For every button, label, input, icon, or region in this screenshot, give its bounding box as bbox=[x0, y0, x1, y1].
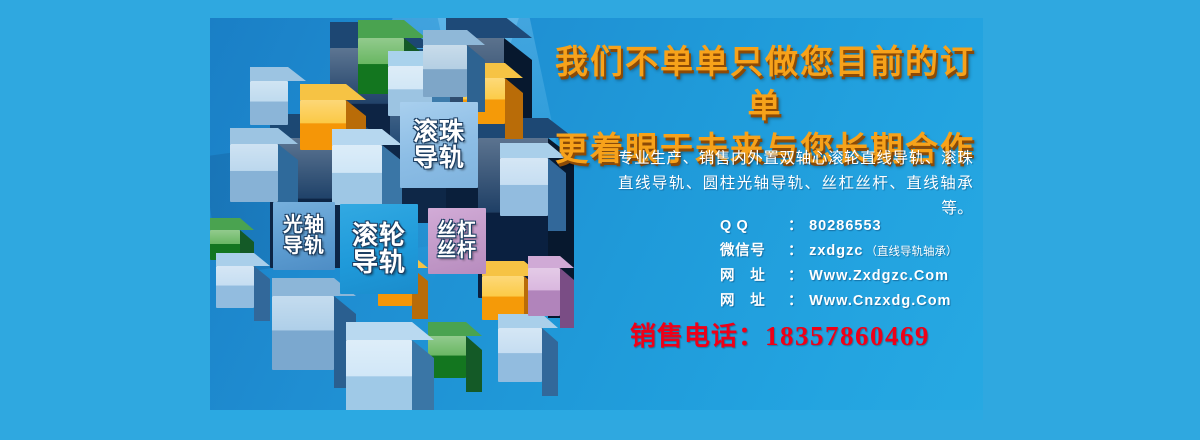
sales-phone[interactable]: 销售电话：18357860469 bbox=[630, 316, 980, 353]
cube-side-face bbox=[412, 340, 434, 420]
headline-line-1: 我们不单单只做您目前的订单 bbox=[550, 40, 980, 127]
contact-row-wechat: 微信号 ： zxdgzc （直线导轨轴承） bbox=[720, 239, 980, 260]
cube-pale-blue bbox=[332, 145, 382, 205]
product-tile-line1: 丝杠 bbox=[437, 221, 477, 241]
cube-front-face bbox=[332, 145, 382, 205]
product-tile-line2: 导轨 bbox=[413, 145, 465, 171]
contact-colon: ： bbox=[788, 214, 803, 235]
contact-colon: ： bbox=[788, 289, 803, 310]
product-tile-guangzhou-daogui[interactable]: 光轴 导轨 bbox=[273, 202, 335, 270]
contact-colon: ： bbox=[788, 264, 803, 285]
product-tile-line1: 光轴 bbox=[283, 215, 325, 236]
cube-front-face bbox=[498, 328, 542, 382]
cube-pale-blue bbox=[423, 45, 467, 97]
cube-side-face bbox=[254, 266, 270, 321]
promo-banner: 滚珠 导轨 光轴 导轨 滚轮 导轨 丝杠 丝杆 我们不单单只做您目前的订单 更着… bbox=[210, 18, 983, 420]
cube-top-face bbox=[250, 67, 306, 81]
contact-label: 微信号 bbox=[720, 239, 788, 260]
contact-value-website-1[interactable]: Www.Zxdgzc.Com bbox=[809, 268, 949, 284]
cube-front-face bbox=[272, 296, 334, 370]
contact-row-qq: Q Q ： 80286553 bbox=[720, 214, 980, 235]
cube-top-face bbox=[216, 253, 270, 266]
cube-side-face bbox=[505, 78, 523, 139]
contact-row-website-2: 网 址 ： Www.Cnzxdg.Com bbox=[720, 289, 980, 310]
cube-pale-blue bbox=[216, 266, 254, 308]
contact-value-website-2[interactable]: Www.Cnzxdg.Com bbox=[809, 293, 951, 309]
cube-pale-blue bbox=[250, 81, 288, 125]
contact-label: Q Q bbox=[720, 218, 788, 234]
banner-text-content: 我们不单单只做您目前的订单 更着眼于未来与您长期合作 专业生产、销售内外置双轴心… bbox=[540, 18, 983, 420]
contact-label: 网 址 bbox=[720, 264, 788, 285]
contact-label: 网 址 bbox=[720, 289, 788, 310]
cube-front-face bbox=[230, 144, 278, 202]
cube-top-face bbox=[332, 129, 402, 145]
sales-phone-number[interactable]: 18357860469 bbox=[765, 321, 930, 351]
cube-top-face bbox=[230, 128, 298, 144]
cube-pale-blue bbox=[346, 340, 412, 418]
product-tile-line2: 导轨 bbox=[352, 249, 406, 276]
cube-top-face bbox=[300, 84, 366, 100]
product-tile-gunzhu-daogui[interactable]: 滚珠 导轨 bbox=[400, 102, 478, 188]
contact-note-wechat: （直线导轨轴承） bbox=[865, 243, 957, 259]
banner-page: 滚珠 导轨 光轴 导轨 滚轮 导轨 丝杠 丝杆 我们不单单只做您目前的订单 更着… bbox=[0, 0, 1200, 440]
cube-front-face bbox=[250, 81, 288, 125]
product-tile-gunlun-daogui[interactable]: 滚轮 导轨 bbox=[340, 204, 418, 294]
product-tile-sigang-sigan[interactable]: 丝杠 丝杆 bbox=[428, 208, 486, 274]
company-description: 专业生产、销售内外置双轴心滚轮直线导轨、滚珠直线导轨、圆柱光轴导轨、丝杠丝杆、直… bbox=[618, 146, 973, 221]
cube-side-face bbox=[466, 336, 482, 392]
cube-top-face bbox=[358, 20, 426, 38]
cube-front-face bbox=[216, 266, 254, 308]
product-tile-line2: 丝杆 bbox=[437, 241, 477, 261]
cube-top-face bbox=[428, 322, 482, 336]
cube-top-face bbox=[423, 30, 485, 45]
product-tile-line1: 滚轮 bbox=[352, 222, 406, 249]
cube-front-face bbox=[346, 340, 412, 418]
contact-colon: ： bbox=[788, 239, 803, 260]
cube-pale-blue bbox=[272, 296, 334, 370]
product-tile-line2: 导轨 bbox=[283, 236, 325, 257]
sales-phone-label: 销售电话： bbox=[630, 321, 765, 351]
cube-front-face bbox=[423, 45, 467, 97]
contact-value-wechat[interactable]: zxdgzc bbox=[809, 243, 863, 259]
cube-pale-blue bbox=[230, 144, 278, 202]
cube-top-face bbox=[210, 218, 254, 230]
cube-top-face bbox=[346, 322, 434, 340]
contact-value-qq[interactable]: 80286553 bbox=[809, 218, 882, 234]
cube-pale-blue bbox=[498, 328, 542, 382]
cube-cluster-graphic: 滚珠 导轨 光轴 导轨 滚轮 导轨 丝杠 丝杆 bbox=[210, 18, 560, 420]
contact-row-website-1: 网 址 ： Www.Zxdgzc.Com bbox=[720, 264, 980, 285]
contact-info-list: Q Q ： 80286553 微信号 ： zxdgzc （直线导轨轴承） 网 址… bbox=[720, 214, 980, 314]
product-tile-line1: 滚珠 bbox=[413, 119, 465, 145]
banner-bottom-strip bbox=[210, 410, 983, 420]
